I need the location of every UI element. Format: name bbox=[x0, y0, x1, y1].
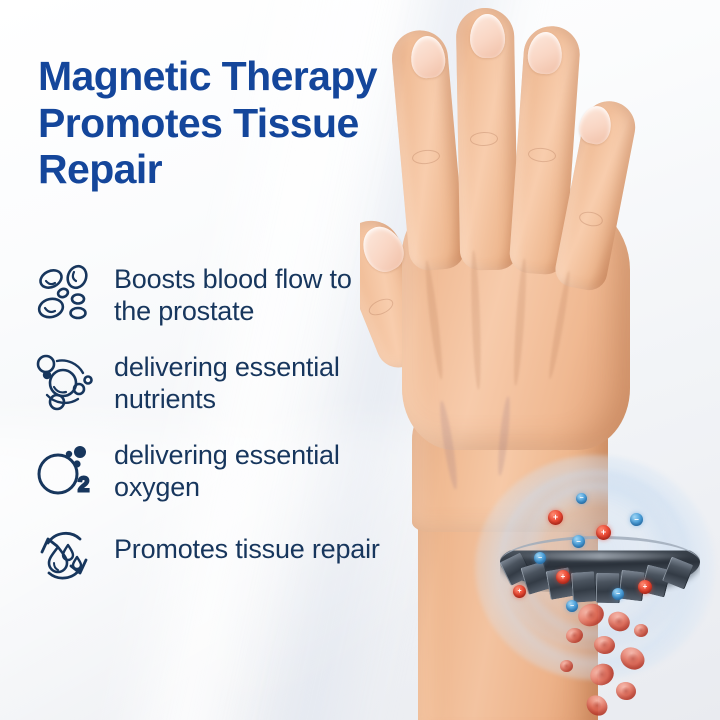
feature-item-blood-flow: Boosts blood flow to the prostate bbox=[28, 258, 458, 330]
ion-particle-negative: − bbox=[612, 588, 624, 600]
ion-particle-negative: − bbox=[572, 535, 585, 548]
feature-item-oxygen: 2 delivering essential oxygen bbox=[28, 434, 458, 506]
feature-text-line-2: nutrients bbox=[114, 384, 216, 414]
tissue-repair-cycle-icon bbox=[28, 520, 100, 592]
feature-item-tissue-repair: Promotes tissue repair bbox=[28, 520, 458, 592]
headline-line-2: Promotes Tissue bbox=[38, 100, 468, 146]
oxygen-o2-icon: 2 bbox=[28, 434, 100, 506]
ion-particle-negative: − bbox=[630, 513, 643, 526]
poster-canvas: +++++−−−−−− Magnetic Therapy Promotes Ti… bbox=[0, 0, 720, 720]
feature-text-line-2: the prostate bbox=[114, 296, 254, 326]
red-blood-cell bbox=[560, 660, 573, 672]
feature-text-line-1: delivering essential bbox=[114, 440, 340, 470]
headline-line-1: Magnetic Therapy bbox=[38, 53, 468, 99]
bracelet-link bbox=[571, 571, 597, 603]
feature-list: Boosts blood flow to the prostate bbox=[28, 258, 458, 606]
feature-text-line-1: Promotes tissue repair bbox=[114, 534, 380, 564]
ion-particle-positive: + bbox=[596, 525, 611, 540]
ion-particle-positive: + bbox=[513, 585, 526, 598]
feature-text-line-1: Boosts blood flow to bbox=[114, 264, 352, 294]
red-blood-cell bbox=[634, 624, 648, 637]
ion-particle-negative: − bbox=[576, 493, 587, 504]
ion-particle-positive: + bbox=[548, 510, 563, 525]
page-title: Magnetic Therapy Promotes Tissue Repair bbox=[38, 53, 468, 192]
nutrient-molecule-icon bbox=[28, 346, 100, 418]
ion-particle-negative: − bbox=[566, 600, 578, 612]
feature-text-line-2: oxygen bbox=[114, 472, 200, 502]
headline-line-3: Repair bbox=[38, 146, 468, 192]
ion-particle-positive: + bbox=[638, 580, 652, 594]
feature-text-oxygen: delivering essential oxygen bbox=[114, 434, 340, 503]
feature-text-blood-flow: Boosts blood flow to the prostate bbox=[114, 258, 352, 327]
ion-particle-positive: + bbox=[556, 570, 570, 584]
blood-cells-icon bbox=[28, 258, 100, 330]
feature-text-nutrients: delivering essential nutrients bbox=[114, 346, 340, 415]
feature-text-tissue-repair: Promotes tissue repair bbox=[114, 520, 380, 566]
feature-item-nutrients: delivering essential nutrients bbox=[28, 346, 458, 418]
svg-text:2: 2 bbox=[78, 474, 89, 496]
feature-text-line-1: delivering essential bbox=[114, 352, 340, 382]
magnetic-bracelet bbox=[500, 536, 700, 598]
ion-particle-negative: − bbox=[534, 552, 546, 564]
